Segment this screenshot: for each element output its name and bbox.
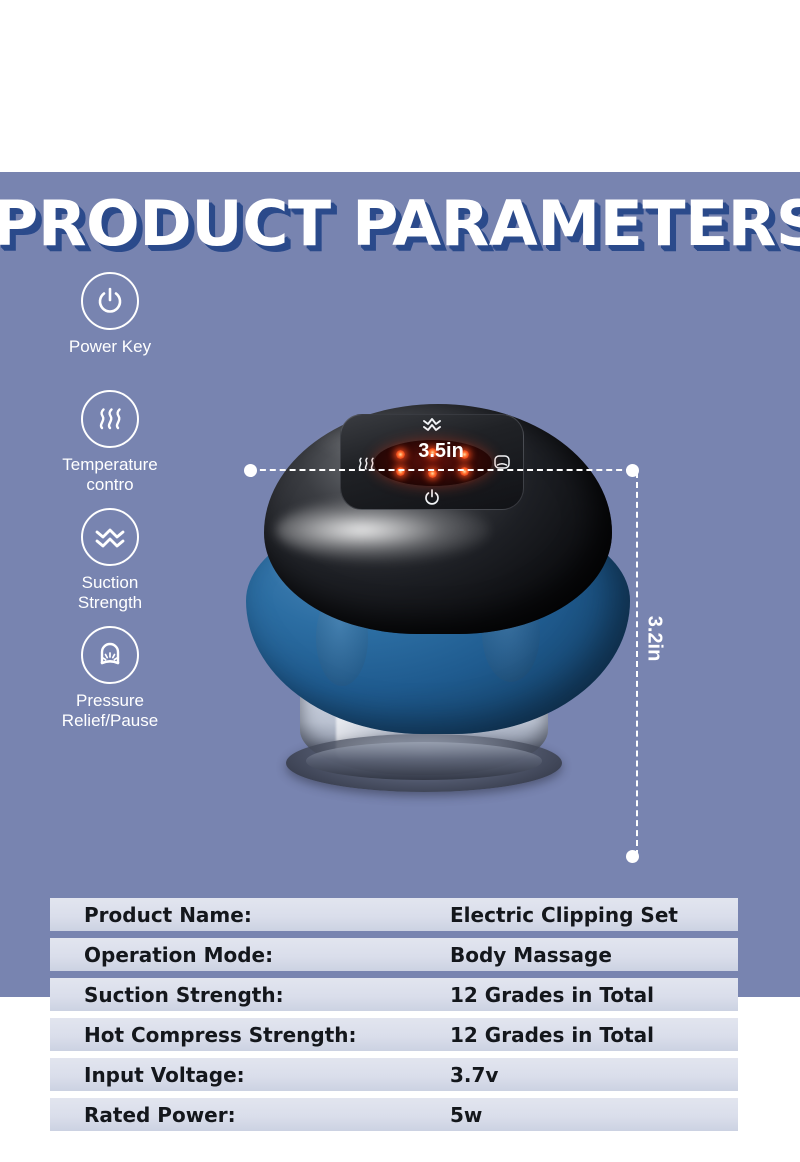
table-row: Rated Power: 5w [50,1098,738,1131]
spec-value: 12 Grades in Total [450,1023,654,1047]
spec-key: Product Name: [84,903,450,927]
width-dimension-label: 3.5in [250,440,632,463]
width-dimension-line [250,469,632,471]
feature-label: Power Key [20,337,200,357]
spec-value: Electric Clipping Set [450,903,678,927]
pressure-icon [81,626,139,684]
spec-key: Hot Compress Strength: [84,1023,450,1047]
power-icon [81,272,139,330]
dimension-endpoint-dot [244,464,257,477]
feature-label: Temperature contro [20,455,200,495]
specification-table: Product Name: Electric Clipping Set Oper… [50,898,738,1138]
table-row: Input Voltage: 3.7v [50,1058,738,1091]
spec-value: 5w [450,1103,482,1127]
feature-suction-strength: Suction Strength [20,508,200,613]
table-row: Hot Compress Strength: 12 Grades in Tota… [50,1018,738,1051]
suction-wave-icon[interactable] [421,416,443,434]
spec-key: Operation Mode: [84,943,450,967]
spec-value: Body Massage [450,943,612,967]
spec-value: 12 Grades in Total [450,983,654,1007]
dimension-endpoint-dot [626,850,639,863]
table-row: Operation Mode: Body Massage [50,938,738,971]
spec-value: 3.7v [450,1063,498,1087]
spec-key: Input Voltage: [84,1063,450,1087]
charging-note: （Note: charging time shall not exceed 8 … [0,1136,800,1162]
suction-wave-icon [81,508,139,566]
height-dimension-label: 3.2in [643,599,666,679]
spec-key: Suction Strength: [84,983,450,1007]
feature-pressure-relief: Pressure Relief/Pause [20,626,200,731]
spec-key: Rated Power: [84,1103,450,1127]
feature-label: Suction Strength [20,573,200,613]
product-parameters-panel: PRODUCT PARAMETERS Power Key [0,172,800,997]
feature-label: Pressure Relief/Pause [20,691,200,731]
product-image [228,272,648,832]
table-row: Product Name: Electric Clipping Set [50,898,738,931]
height-dimension-line [636,472,638,856]
feature-power-key: Power Key [20,272,200,357]
table-row: Suction Strength: 12 Grades in Total [50,978,738,1011]
heat-waves-icon [81,390,139,448]
page-title: PRODUCT PARAMETERS [0,187,800,260]
feature-temperature-control: Temperature contro [20,390,200,495]
power-icon[interactable] [423,488,441,509]
suction-cup-rim-inner [306,742,542,780]
